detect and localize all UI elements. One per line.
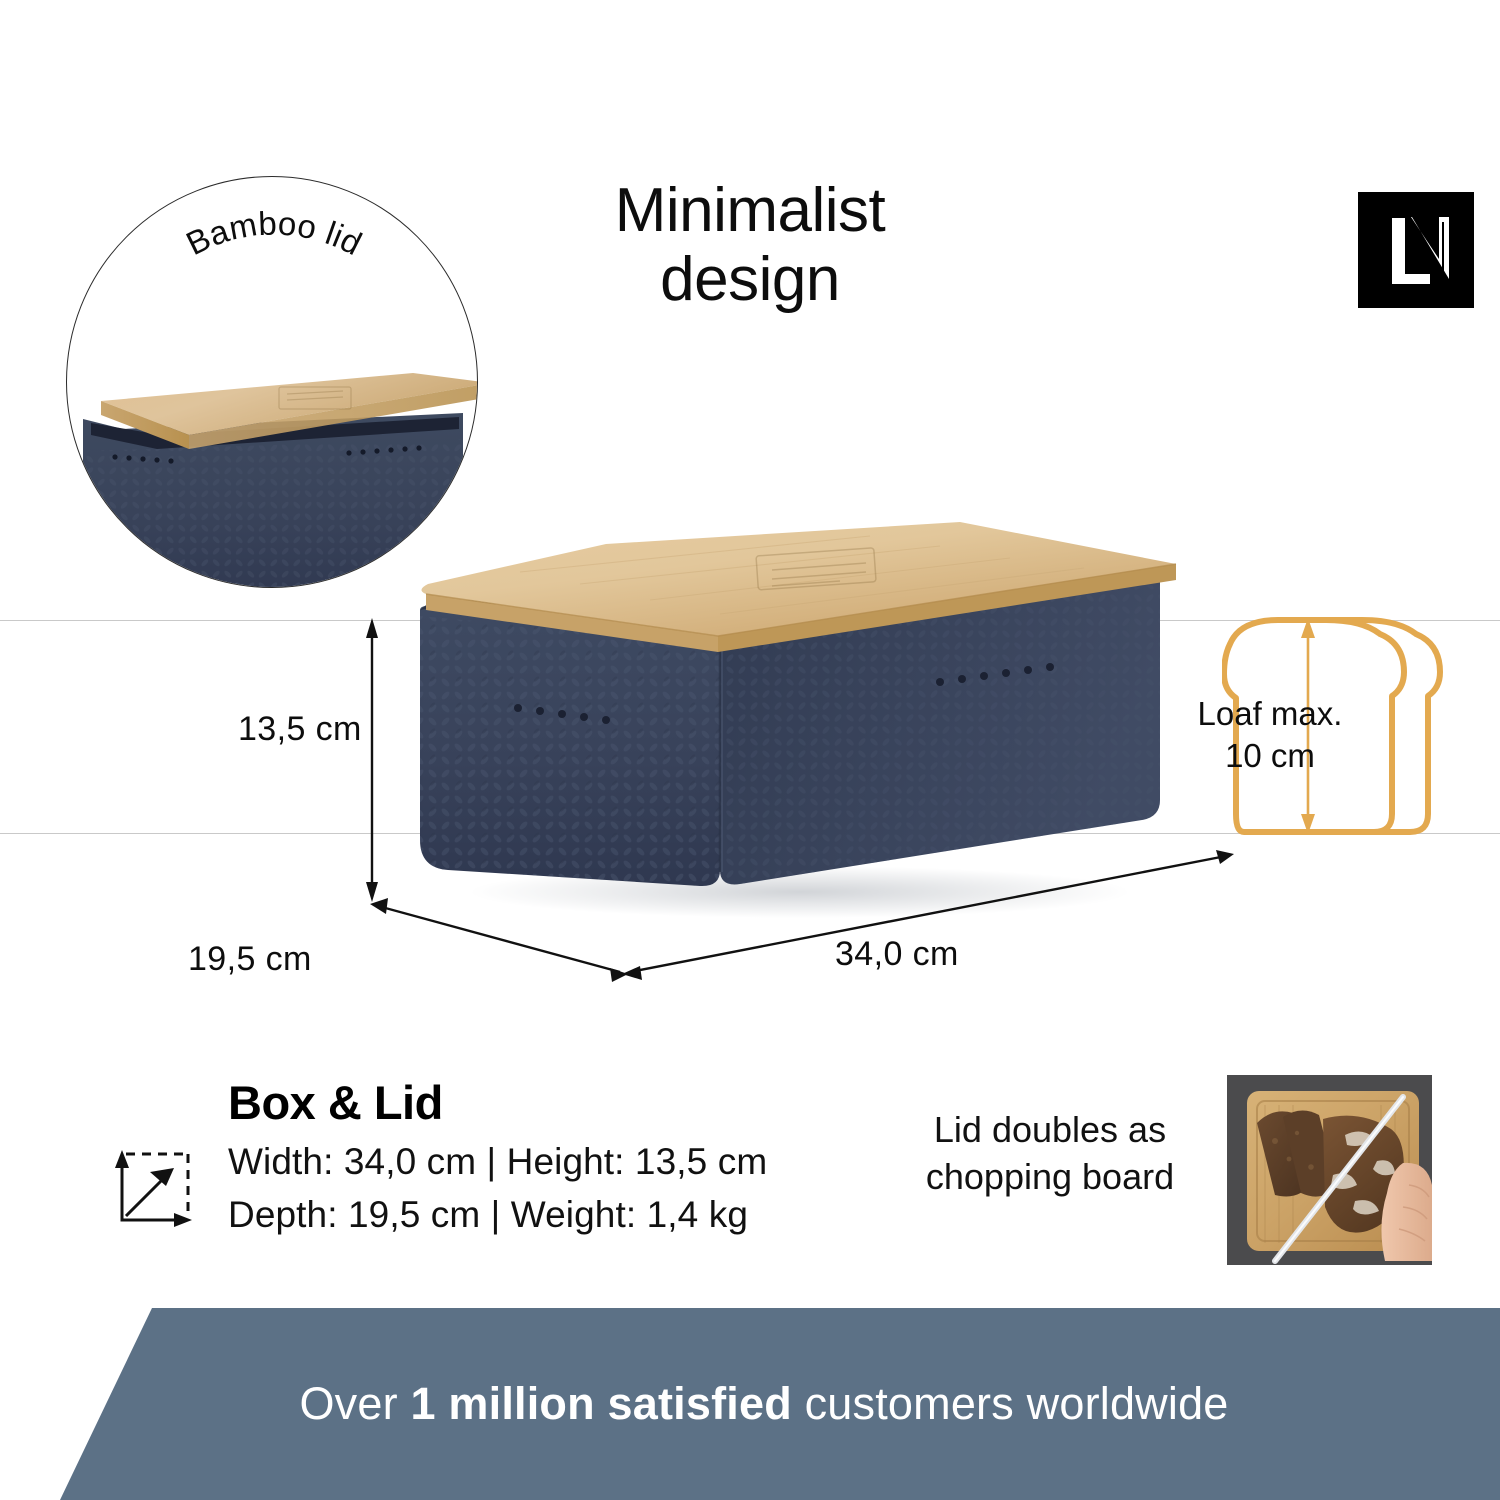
banner-prefix: Over xyxy=(299,1378,410,1429)
banner-text: Over 1 million satisfied customers world… xyxy=(299,1378,1228,1430)
chopping-board-caption-line-1: Lid doubles as xyxy=(880,1107,1220,1154)
loaf-max-label: Loaf max. 10 cm xyxy=(1190,693,1350,776)
arc-label-text: Bamboo lid xyxy=(180,204,368,262)
loaf-max-label-line-1: Loaf max. xyxy=(1190,693,1350,735)
banner-suffix: customers worldwide xyxy=(792,1378,1229,1429)
page-title-line-2: design xyxy=(430,245,1070,314)
spec-line-1: Width: 34,0 cm | Height: 13,5 cm xyxy=(228,1136,767,1189)
box-and-lid-specs: Box & Lid Width: 34,0 cm | Height: 13,5 … xyxy=(106,1075,866,1241)
page-title: Minimalist design xyxy=(430,176,1070,315)
spec-line-2: Depth: 19,5 cm | Weight: 1,4 kg xyxy=(228,1189,767,1242)
chopping-board-feature: Lid doubles as chopping board xyxy=(880,1075,1440,1275)
dimension-height-label: 13,5 cm xyxy=(238,710,362,749)
chopping-board-caption: Lid doubles as chopping board xyxy=(880,1107,1220,1201)
dimension-depth-label: 19,5 cm xyxy=(188,940,312,979)
dimension-width-label: 34,0 cm xyxy=(835,935,959,974)
spec-lines: Width: 34,0 cm | Height: 13,5 cm Depth: … xyxy=(228,1136,767,1241)
brand-logo-icon xyxy=(1358,192,1474,308)
banner-highlight: 1 million satisfied xyxy=(410,1378,791,1429)
loaf-max-label-line-2: 10 cm xyxy=(1190,735,1350,777)
svg-text:Bamboo lid: Bamboo lid xyxy=(180,204,368,262)
spec-heading: Box & Lid xyxy=(228,1075,866,1130)
page-title-line-1: Minimalist xyxy=(430,176,1070,245)
bread-on-cutting-board-photo xyxy=(1227,1075,1432,1265)
dimension-arrows-icon xyxy=(106,1140,202,1236)
chopping-board-caption-line-2: chopping board xyxy=(880,1154,1220,1201)
infographic-canvas: Minimalist design Bamboo lid xyxy=(0,0,1500,1500)
satisfied-customers-banner: Over 1 million satisfied customers world… xyxy=(0,1308,1500,1500)
